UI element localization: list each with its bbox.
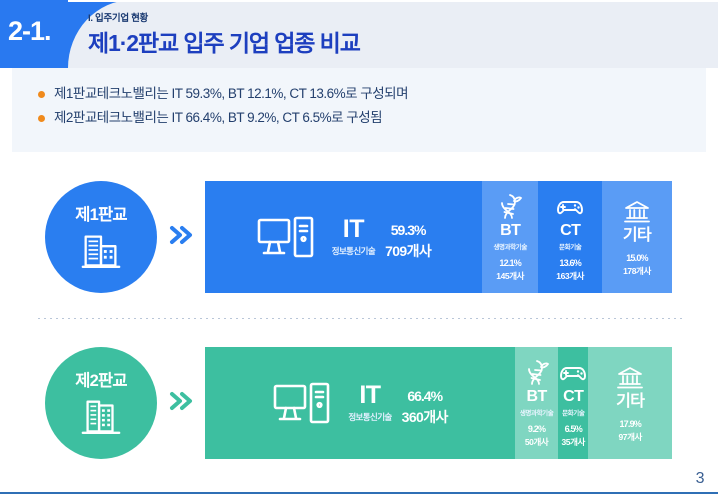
segment-percent-value: 6.5 [565, 424, 575, 434]
segment-sublabel: 생명과학기술 [520, 407, 553, 417]
bar-segment-it[interactable]: IT 정보통신기술 59.3% 709개사 [205, 181, 482, 293]
segment-percent: 6.5% [565, 419, 582, 437]
stacked-bar-pangyo-1: IT 정보통신기술 59.3% 709개사 [205, 181, 672, 293]
segment-percent-value: 15.0 [626, 253, 640, 263]
bar-segment-ct[interactable]: CT 문화기술 13.6% 163개사 [538, 181, 602, 293]
segment-percent-value: 9.2 [528, 424, 538, 434]
segment-label: IT [332, 217, 375, 242]
bar-segment-bt[interactable]: BT 생명과학기술 9.2% 50개사 [515, 347, 558, 459]
percent-sign: % [641, 253, 648, 263]
row-label-circle: 제1판교 [45, 181, 157, 293]
segment-percent: 66.4% [402, 379, 448, 406]
slide-number-badge: 2-1. [8, 16, 80, 47]
segment-count: 145개사 [496, 270, 524, 282]
segment-label: CT [563, 389, 583, 406]
segment-percent: 59.3% [385, 213, 431, 240]
dna-helix-icon [495, 192, 525, 222]
segment-percent: 15.0% [626, 248, 648, 266]
header-subtitle: I. 입주기업 현황 [88, 10, 148, 24]
stacked-bar-pangyo-2: IT 정보통신기술 66.4% 360개사 [205, 347, 672, 459]
segment-percent-value: 12.1 [499, 258, 513, 268]
segment-label: CT [560, 223, 580, 240]
bullet-text: 제2판교테크노밸리는 IT 66.4%, BT 9.2%, CT 6.5%로 구… [54, 108, 382, 128]
segment-percent: 12.1% [499, 253, 521, 271]
double-chevron-right-icon [166, 220, 196, 250]
row-label-circle: 제2판교 [45, 347, 157, 459]
percent-sign: % [414, 222, 425, 238]
segment-label: 기타 [616, 394, 644, 411]
bank-building-icon [615, 363, 645, 393]
bullet-text: 제1판교테크노밸리는 IT 59.3%, BT 12.1%, CT 13.6%로… [54, 84, 408, 104]
segment-percent: 13.6% [559, 253, 581, 271]
percent-sign: % [514, 258, 521, 268]
dna-helix-icon [522, 358, 552, 388]
building-icon [78, 394, 124, 440]
bar-segment-it[interactable]: IT 정보통신기술 66.4% 360개사 [205, 347, 515, 459]
segment-count: 97개사 [618, 431, 642, 443]
percent-sign: % [538, 424, 545, 434]
game-controller-icon [558, 358, 588, 388]
segment-count: 709개사 [385, 241, 431, 261]
segment-percent-value: 66.4 [407, 388, 430, 404]
chart-row-pangyo-2: 제2판교 [0, 338, 718, 468]
segment-percent-value: 59.3 [391, 222, 414, 238]
chart-row-pangyo-1: 제1판교 [0, 172, 718, 302]
bullet-dot-icon [38, 91, 45, 98]
summary-panel: 제1판교테크노밸리는 IT 59.3%, BT 12.1%, CT 13.6%로… [12, 68, 706, 152]
segment-percent: 17.9% [619, 414, 641, 432]
segment-count: 50개사 [525, 436, 549, 448]
segment-percent-value: 13.6 [559, 258, 573, 268]
segment-label: 기타 [623, 228, 651, 245]
segment-label: IT [348, 383, 391, 408]
segment-count: 163개사 [556, 270, 584, 282]
segment-label: BT [500, 223, 520, 240]
segment-sublabel: 문화기술 [562, 407, 584, 417]
circle-label: 제1판교 [75, 201, 127, 225]
building-icon [78, 228, 124, 274]
segment-sublabel: 정보통신기술 [332, 245, 375, 257]
circle-label: 제2판교 [75, 367, 127, 391]
segment-count: 360개사 [402, 407, 448, 427]
page-title: 제1·2판교 입주 기업 업종 비교 [88, 24, 360, 58]
percent-sign: % [431, 388, 442, 404]
desktop-computer-icon [256, 213, 316, 261]
desktop-computer-icon [272, 379, 332, 427]
footer-rule [0, 492, 718, 494]
game-controller-icon [555, 192, 585, 222]
bar-segment-bt[interactable]: BT 생명과학기술 12.1% 145개사 [482, 181, 539, 293]
bar-segment-etc[interactable]: 기타 15.0% 178개사 [602, 181, 672, 293]
bank-building-icon [622, 197, 652, 227]
segment-count: 35개사 [561, 436, 585, 448]
bar-segment-ct[interactable]: CT 문화기술 6.5% 35개사 [558, 347, 588, 459]
percent-sign: % [634, 419, 641, 429]
segment-label: BT [527, 389, 547, 406]
percent-sign: % [574, 258, 581, 268]
segment-percent: 9.2% [528, 419, 545, 437]
segment-count: 178개사 [623, 265, 651, 277]
segment-sublabel: 생명과학기술 [493, 241, 526, 251]
segment-percent-value: 17.9 [619, 419, 633, 429]
bar-segment-etc[interactable]: 기타 17.9% 97개사 [588, 347, 672, 459]
bullet-dot-icon [38, 115, 45, 122]
segment-sublabel: 문화기술 [559, 241, 581, 251]
double-chevron-right-icon [166, 386, 196, 416]
percent-sign: % [575, 424, 582, 434]
segment-sublabel: 정보통신기술 [348, 411, 391, 423]
page-number: 3 [696, 470, 704, 488]
slide-header: 2-1. I. 입주기업 현황 제1·2판교 입주 기업 업종 비교 [0, 0, 718, 68]
section-divider [38, 318, 682, 319]
